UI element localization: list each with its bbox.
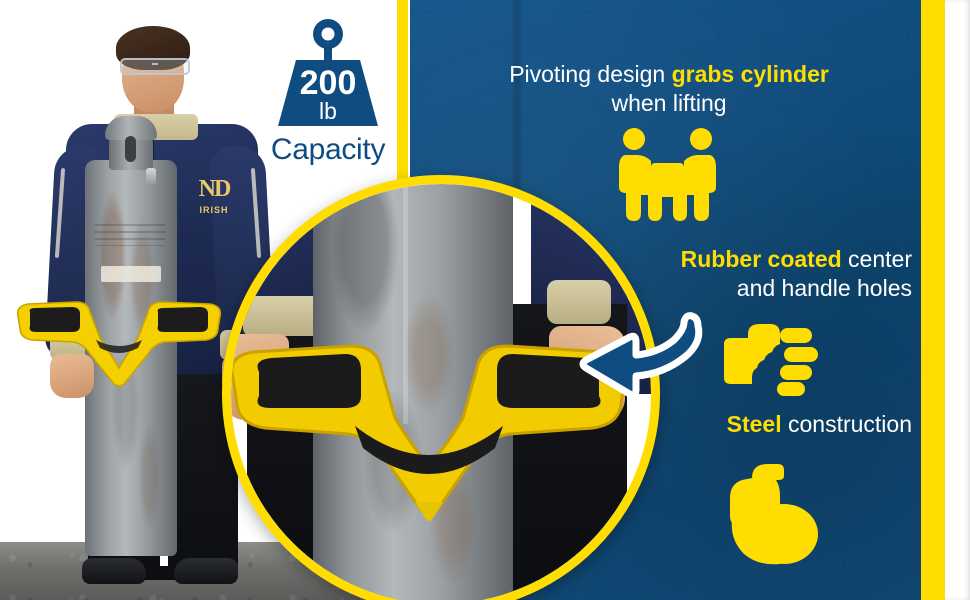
shoe-left <box>82 558 146 584</box>
jacket-zipper-pull <box>146 168 156 184</box>
feature-pivoting-design: Pivoting design grabs cylinder when lift… <box>424 60 914 117</box>
notre-dame-monogram: ND <box>199 177 230 201</box>
capacity-badge: 200 lb Capacity <box>262 18 394 168</box>
capacity-unit: lb <box>319 98 337 124</box>
feature1-line2: when lifting <box>611 90 726 116</box>
feature3-bold: Steel <box>727 411 782 437</box>
flexed-bicep-icon <box>722 462 827 572</box>
cylinder-valve-port <box>125 136 136 162</box>
lifting-handle <box>14 296 224 388</box>
fist-grip-icon <box>722 322 822 400</box>
cylinder-label <box>101 266 161 282</box>
cylinder-stamp <box>95 224 165 246</box>
shoe-right <box>174 558 238 584</box>
infographic-canvas: ND IRISH <box>0 0 970 600</box>
divider-right-stripe <box>921 0 945 600</box>
feature2-line1-normal: center <box>842 246 912 272</box>
safety-glasses-icon <box>120 58 190 75</box>
capacity-value: 200 <box>300 64 357 102</box>
feature3-normal: construction <box>782 411 912 437</box>
capacity-label: Capacity <box>262 133 394 167</box>
callout-arrow-icon <box>560 308 705 403</box>
weight-icon: 200 lb <box>262 18 394 130</box>
right-white-margin <box>945 0 970 600</box>
feature2-line1-bold: Rubber coated <box>681 246 842 272</box>
feature1-line1-bold: grabs cylinder <box>672 61 829 87</box>
feature2-line2: and handle holes <box>737 275 912 301</box>
feature1-line1-normal: Pivoting design <box>509 61 671 87</box>
feature-text-pivoting: Pivoting design grabs cylinder when lift… <box>424 60 914 117</box>
irish-text: IRISH <box>199 205 228 215</box>
